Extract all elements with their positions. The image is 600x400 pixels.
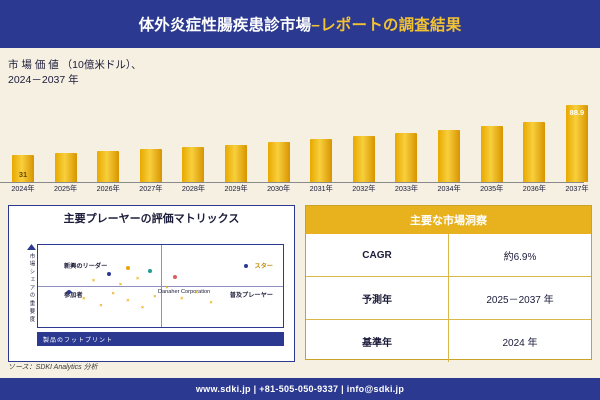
matrix-point: [107, 272, 111, 276]
matrix-point: ×: [119, 283, 122, 288]
x-tick-label: 2036年: [519, 184, 549, 198]
bar: [523, 122, 545, 182]
bar: [395, 133, 417, 182]
x-tick-label: 2030年: [264, 184, 294, 198]
bar: [353, 136, 375, 182]
chart-caption-line1: 市 場 価 値 （10億米ドル）、: [8, 58, 198, 73]
matrix-label-emerging-leader: 新興のリーダー: [64, 261, 107, 270]
x-tick-label: 2024年: [8, 184, 38, 198]
matrix-point: ×: [126, 299, 129, 304]
chart-axis-line: [0, 182, 584, 183]
matrix-point: ×: [112, 292, 115, 297]
table-row: 基準年2024 年: [306, 319, 591, 362]
bar-item: [477, 100, 507, 182]
insight-value: 約6.9%: [449, 234, 591, 276]
bar: [438, 130, 460, 182]
x-tick-label: 2025年: [51, 184, 81, 198]
bar-item: [93, 100, 123, 182]
bar: [481, 126, 503, 182]
key-market-insights-panel: 主要な市場洞察 CAGR約6.9%予測年2025－2037 年基準年2024 年: [305, 205, 592, 360]
x-tick-label: 2035年: [477, 184, 507, 198]
bar-value-label: 88.9: [562, 108, 592, 117]
bar-item: 88.9: [562, 100, 592, 182]
bar: [182, 147, 204, 182]
bar-item: [519, 100, 549, 182]
table-row: 予測年2025－2037 年: [306, 276, 591, 319]
bar: [55, 153, 77, 182]
bar: [140, 149, 162, 182]
arrow-up-icon: [27, 244, 36, 253]
insights-table: CAGR約6.9%予測年2025－2037 年基準年2024 年: [306, 234, 591, 362]
player-assessment-matrix-panel: 主要プレーヤーの評価マトリックス 市 場 シ ェ ア の 重 要 度 新興のリー…: [8, 205, 295, 362]
matrix-point: ×: [141, 306, 144, 311]
chart-plot-area: 3188.9: [8, 100, 592, 182]
bar: [268, 142, 290, 182]
bar-item: [306, 100, 336, 182]
page-footer: www.sdki.jp | +81-505-050-9337 | info@sd…: [0, 378, 600, 400]
matrix-title: 主要プレーヤーの評価マトリックス: [9, 206, 294, 230]
bar-item: [221, 100, 251, 182]
matrix-point: ×: [99, 304, 102, 309]
bar-item: [434, 100, 464, 182]
matrix-point: ×: [82, 297, 85, 302]
insight-value: 2024 年: [449, 320, 591, 362]
matrix-point: [173, 275, 177, 279]
matrix-point: ×: [165, 286, 168, 291]
bar: [97, 151, 119, 182]
page-title-accent: –レポートの調査結果: [311, 17, 461, 34]
matrix-y-axis: 市 場 シ ェ ア の 重 要 度: [25, 244, 37, 328]
bar-value-label: 31: [8, 170, 38, 179]
matrix-point: [148, 269, 152, 273]
table-row: CAGR約6.9%: [306, 234, 591, 276]
page-title: 体外炎症性腸疾患診市場–レポートの調査結果: [139, 13, 462, 35]
x-tick-label: 2027年: [136, 184, 166, 198]
bar-item: [391, 100, 421, 182]
x-tick-label: 2031年: [306, 184, 336, 198]
footer-contact-text[interactable]: www.sdki.jp | +81-505-050-9337 | info@sd…: [196, 384, 404, 394]
x-tick-label: 2028年: [178, 184, 208, 198]
matrix-point: ×: [180, 297, 183, 302]
bar-item: [136, 100, 166, 182]
matrix-label-star: スター: [254, 261, 273, 270]
x-tick-label: 2037年: [562, 184, 592, 198]
bar-item: [349, 100, 379, 182]
matrix-point: [244, 264, 248, 268]
x-tick-label: 2029年: [221, 184, 251, 198]
page-title-main: 体外炎症性腸疾患診市場: [139, 17, 312, 34]
bar: [225, 145, 247, 182]
matrix-quadrants: 新興のリーダー スター 参加者 普及プレーヤー Danaher Corporat…: [37, 244, 284, 328]
matrix-point: ×: [136, 277, 139, 282]
x-tick-label: 2033年: [391, 184, 421, 198]
matrix-label-pervasive-player: 普及プレーヤー: [230, 290, 273, 299]
insight-key: 基準年: [306, 320, 449, 362]
matrix-point: [126, 266, 130, 270]
bar-item: 31: [8, 100, 38, 182]
bar-series: 3188.9: [8, 100, 592, 182]
matrix-horizontal-divider: [38, 286, 283, 287]
source-note: ソース：SDKI Analytics 分析: [8, 362, 98, 372]
insight-key: CAGR: [306, 234, 449, 276]
insight-value: 2025－2037 年: [449, 277, 591, 319]
chart-caption-line2: 2024－2037 年: [8, 73, 198, 88]
chart-caption: 市 場 価 値 （10億米ドル）、 2024－2037 年: [8, 58, 198, 88]
matrix-point: ×: [195, 291, 198, 296]
bar: [310, 139, 332, 182]
matrix-point: ×: [92, 279, 95, 284]
insight-key: 予測年: [306, 277, 449, 319]
chart-x-tick-labels: 2024年2025年2026年2027年2028年2029年2030年2031年…: [8, 184, 592, 198]
matrix-body: 市 場 シ ェ ア の 重 要 度 新興のリーダー スター 参加者 普及プレーヤ…: [15, 230, 288, 348]
x-tick-label: 2032年: [349, 184, 379, 198]
bar-item: [264, 100, 294, 182]
x-tick-label: 2034年: [434, 184, 464, 198]
insights-title: 主要な市場洞察: [306, 206, 591, 234]
matrix-x-axis-label: 製品のフットプリント: [37, 332, 284, 346]
bar-item: [51, 100, 81, 182]
page-header: 体外炎症性腸疾患診市場–レポートの調査結果: [0, 0, 600, 48]
x-tick-label: 2026年: [93, 184, 123, 198]
market-value-bar-chart: 市 場 価 値 （10億米ドル）、 2024－2037 年 3188.9 202…: [0, 48, 600, 198]
matrix-y-axis-label: 市 場 シ ェ ア の 重 要 度: [28, 253, 35, 322]
matrix-point: ×: [153, 295, 156, 300]
matrix-point: ×: [210, 301, 213, 306]
bar-item: [178, 100, 208, 182]
